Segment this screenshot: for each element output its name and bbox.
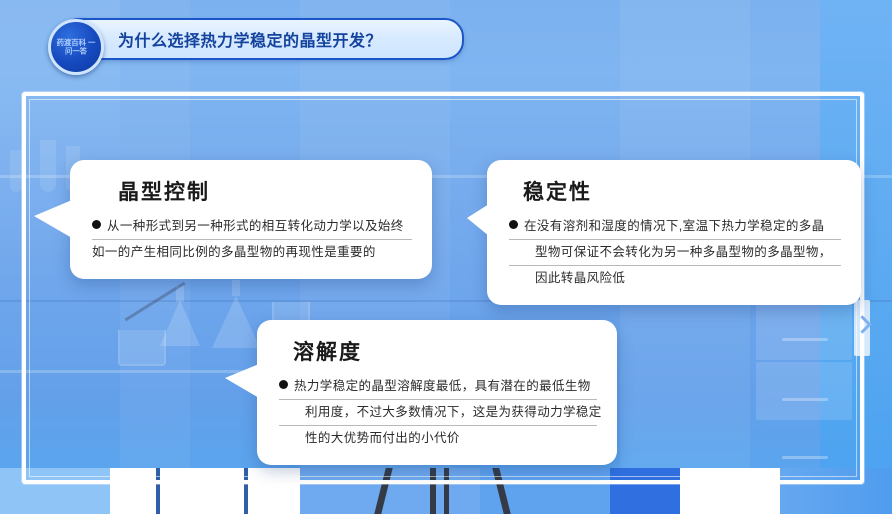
bubble-title: 溶解度 <box>293 336 597 366</box>
bubble-tail <box>34 200 72 238</box>
floor-tile <box>780 468 892 514</box>
floor-tile <box>680 468 780 514</box>
stand-leg <box>444 468 449 514</box>
bubble-line: 利用度，不过大多数情况下，这是为获得动力学稳定 <box>279 400 597 426</box>
stand-leg <box>430 468 436 514</box>
poster-canvas: 药渡百科 一问一答 为什么选择热力学稳定的晶型开发？ 晶型控制 从一种形式到另一… <box>0 0 892 514</box>
bullet-icon <box>92 220 101 229</box>
header: 药渡百科 一问一答 为什么选择热力学稳定的晶型开发？ <box>48 14 464 64</box>
bubble-body: 从一种形式到另一种形式的相互转化动力学以及始终 如一的产生相同比例的多晶型物的再… <box>92 214 412 265</box>
cabinet <box>756 300 852 360</box>
info-bubble-solubility: 溶解度 热力学稳定的晶型溶解度最低，具有潜在的最低生物 利用度，不过大多数情况下… <box>257 320 617 465</box>
cabinet-handle <box>782 456 828 459</box>
bubble-line-text: 热力学稳定的晶型溶解度最低，具有潜在的最低生物 <box>294 379 591 393</box>
bubble-tail <box>467 204 489 236</box>
bubble-line: 从一种形式到另一种形式的相互转化动力学以及始终 <box>92 214 412 240</box>
cabinet-handle <box>782 338 828 341</box>
chevron-right-icon[interactable] <box>854 300 870 356</box>
badge-label: 药渡百科 一问一答 <box>53 39 99 56</box>
bubble-line: 因此转晶风险低 <box>509 266 841 291</box>
bubble-line: 性的大优势而付出的小代价 <box>279 426 597 451</box>
bottle-icon <box>40 140 56 192</box>
page-title: 为什么选择热力学稳定的晶型开发？ <box>118 27 382 51</box>
info-bubble-stability: 稳定性 在没有溶剂和湿度的情况下,室温下热力学稳定的多晶 型物可保证不会转化为另… <box>487 160 861 305</box>
bubble-line-text: 在没有溶剂和湿度的情况下,室温下热力学稳定的多晶 <box>524 219 825 233</box>
qa-seal-icon: 药渡百科 一问一答 <box>48 19 104 75</box>
bubble-body: 热力学稳定的晶型溶解度最低，具有潜在的最低生物 利用度，不过大多数情况下，这是为… <box>279 374 597 451</box>
bubble-body: 在没有溶剂和湿度的情况下,室温下热力学稳定的多晶 型物可保证不会转化为另一种多晶… <box>509 214 841 291</box>
beaker-icon <box>118 330 166 366</box>
bubble-line: 型物可保证不会转化为另一种多晶型物的多晶型物， <box>509 240 841 266</box>
bubble-title: 晶型控制 <box>118 176 412 206</box>
title-pill: 为什么选择热力学稳定的晶型开发？ <box>60 18 464 60</box>
bubble-title: 稳定性 <box>523 176 841 206</box>
flask-icon <box>212 296 260 348</box>
table-leg <box>244 468 248 514</box>
bubble-line: 热力学稳定的晶型溶解度最低，具有潜在的最低生物 <box>279 374 597 400</box>
bubble-line: 在没有溶剂和湿度的情况下,室温下热力学稳定的多晶 <box>509 214 841 240</box>
floor-tile <box>610 468 680 514</box>
cabinet <box>756 362 852 420</box>
bubble-line: 如一的产生相同比例的多晶型物的再现性是重要的 <box>92 240 412 265</box>
table-leg <box>156 468 160 514</box>
floor-tile <box>0 468 110 514</box>
info-bubble-crystal-form-control: 晶型控制 从一种形式到另一种形式的相互转化动力学以及始终 如一的产生相同比例的多… <box>70 160 432 279</box>
flask-icon <box>160 300 200 346</box>
cabinet-handle <box>782 398 828 401</box>
bullet-icon <box>279 380 288 389</box>
bubble-line-text: 从一种形式到另一种形式的相互转化动力学以及始终 <box>107 219 404 233</box>
bubble-tail <box>225 364 259 398</box>
bullet-icon <box>509 220 518 229</box>
bottle-icon <box>10 150 22 192</box>
